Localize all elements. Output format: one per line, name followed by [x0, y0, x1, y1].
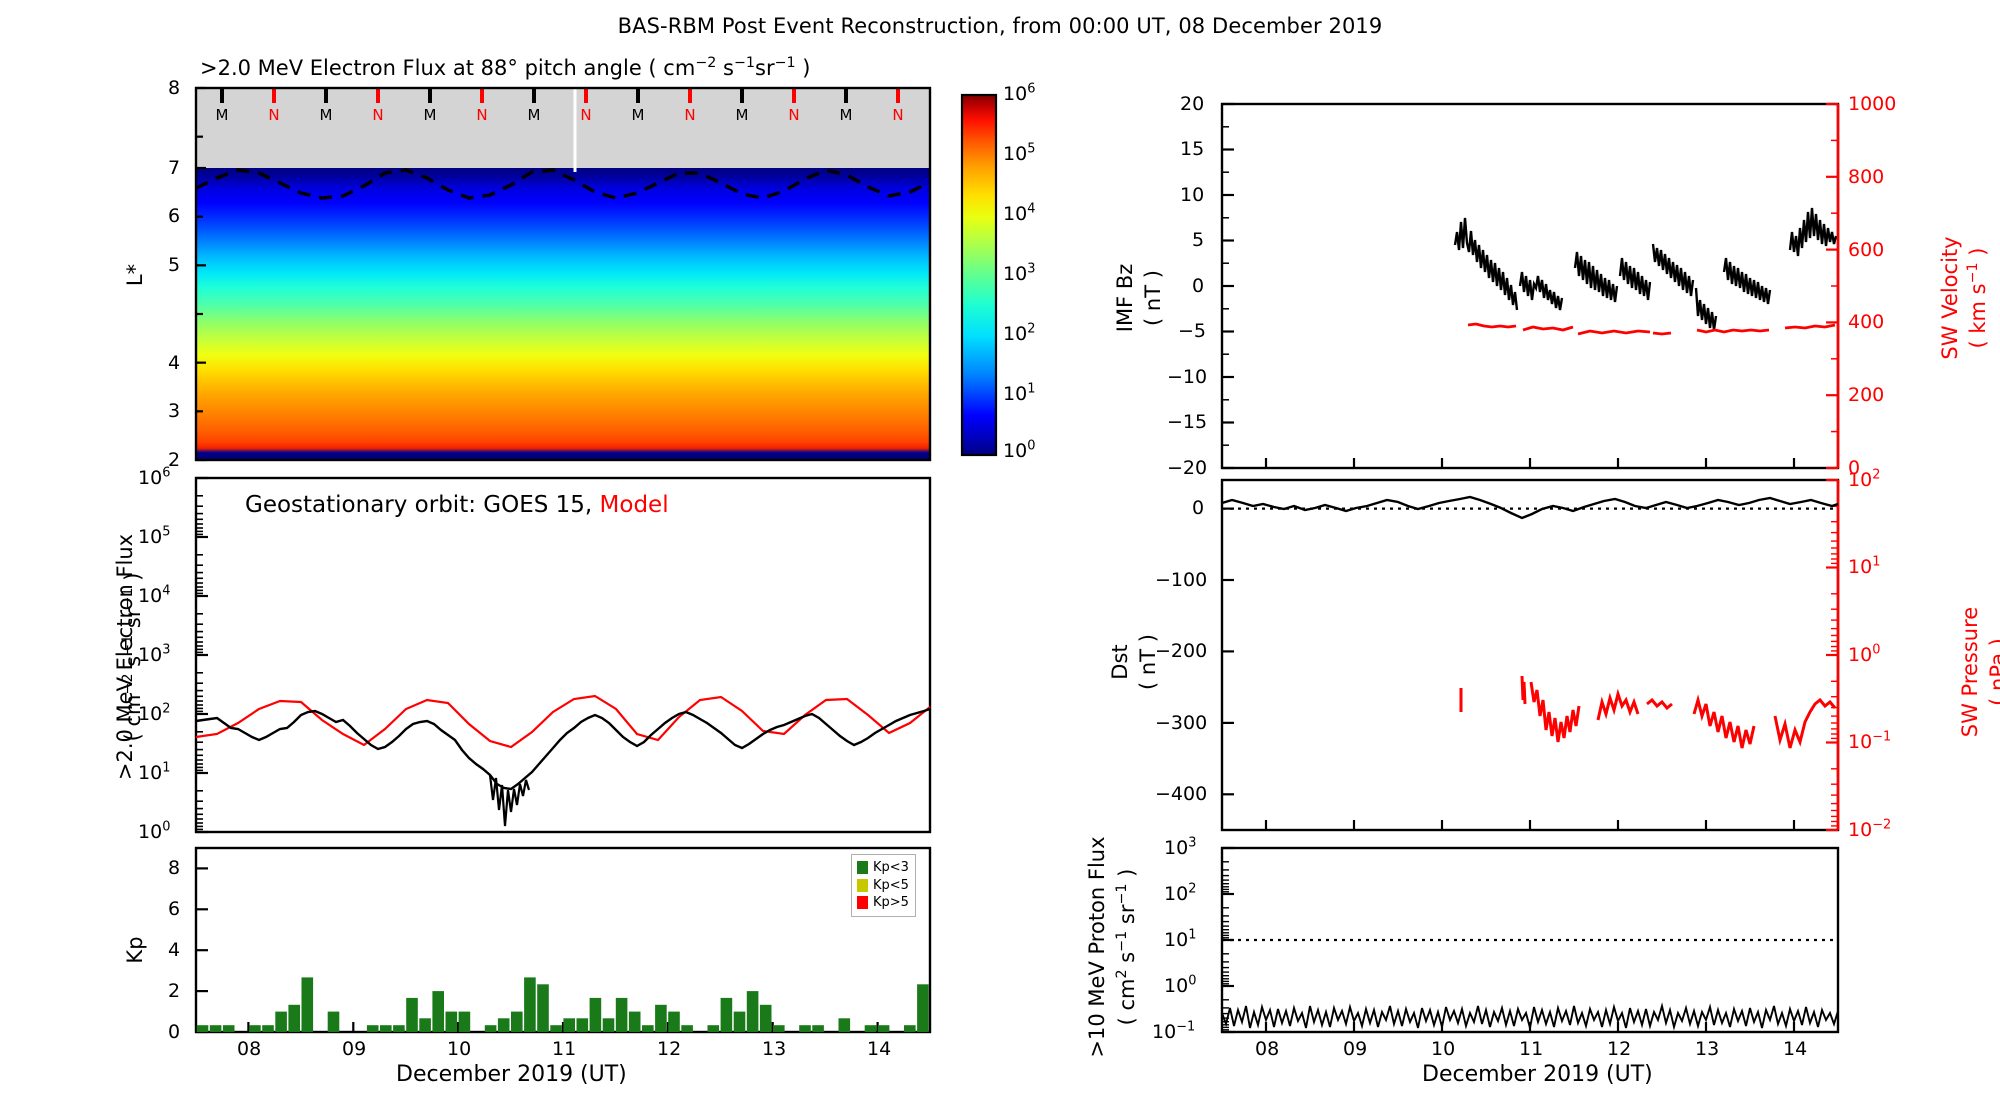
- proton-axis-label-line1: >10 MeV Proton Flux: [1085, 797, 1109, 1097]
- geoflux-ytick-1e4: 104: [138, 585, 170, 607]
- proton-ytick-1e3: 103: [1164, 837, 1196, 859]
- kp-xtick-13: 13: [762, 1038, 786, 1060]
- imfbz-ytick-m10: −10: [1167, 366, 1207, 388]
- proton-xtick-09: 09: [1343, 1038, 1367, 1060]
- mn-label-m-2: M: [311, 106, 341, 124]
- geoflux-axis-label-line1: >2.0 MeV Electron Flux: [113, 497, 137, 817]
- imfbz-ytick-20: 20: [1180, 93, 1204, 115]
- figure-canvas: BAS-RBM Post Event Reconstruction, from …: [0, 0, 2000, 1100]
- mn-label-m-6: M: [727, 106, 757, 124]
- dst-ytick-m300: −300: [1155, 712, 1207, 734]
- proton-xtick-12: 12: [1607, 1038, 1631, 1060]
- kp-xaxis-label: December 2019 (UT): [396, 1062, 627, 1087]
- geoflux-axis-label-line2: ( cm−2 s−1 sr−1 ): [121, 497, 145, 817]
- imfbz-ytick-5: 5: [1192, 229, 1204, 251]
- lstar-ytick-4: 4: [168, 352, 180, 374]
- mn-label-n-2: N: [363, 106, 393, 124]
- kp-legend-label-high: Kp>5: [873, 894, 909, 912]
- sw-pressure-traces: [1461, 676, 1835, 748]
- imf-bz-traces: [1455, 208, 1836, 330]
- swvel-axis-label-line1: SW Velocity: [1938, 178, 1962, 418]
- geoflux-ytick-1e3: 103: [138, 644, 170, 666]
- geoflux-ytick-1e5: 105: [138, 526, 170, 548]
- kp-bars: [197, 977, 929, 1032]
- lstar-axis-label: L*: [123, 245, 147, 305]
- mn-label-m-5: M: [623, 106, 653, 124]
- lstar-ytick-6: 6: [168, 205, 180, 227]
- kp-legend-label-low: Kp<3: [873, 859, 909, 877]
- proton-ytick-1em1: 10−1: [1152, 1021, 1195, 1043]
- proton-xaxis-label: December 2019 (UT): [1422, 1062, 1653, 1087]
- mn-label-n-1: N: [259, 106, 289, 124]
- mn-label-m-1: M: [207, 106, 237, 124]
- swvel-ytick-400: 400: [1848, 311, 1884, 333]
- mn-label-m-4: M: [519, 106, 549, 124]
- dst-axis-label-line2: ( nT ): [1136, 582, 1160, 742]
- lstar-ytick-5: 5: [168, 254, 180, 276]
- imfbz-ytick-m5: −5: [1178, 320, 1206, 342]
- mn-label-n-3: N: [467, 106, 497, 124]
- mn-label-n-6: N: [779, 106, 809, 124]
- dst-curve: [1222, 497, 1838, 518]
- kp-ytick-0: 0: [168, 1021, 180, 1043]
- lstar-ytick-3: 3: [168, 400, 180, 422]
- swpress-ytick-1e1: 101: [1848, 556, 1880, 578]
- mn-label-n-5: N: [675, 106, 705, 124]
- geoflux-ytick-1e0: 100: [138, 821, 170, 843]
- imfbz-axis-label-line2: ( nT ): [1141, 198, 1165, 398]
- proton-flux-trace: [1222, 1006, 1838, 1028]
- kp-legend: Kp<3 Kp<5 Kp>5: [851, 854, 916, 917]
- kp-ytick-6: 6: [168, 898, 180, 920]
- kp-ytick-4: 4: [168, 939, 180, 961]
- proton-xtick-10: 10: [1431, 1038, 1455, 1060]
- swpress-ytick-1em1: 10−1: [1848, 731, 1891, 753]
- dst-ytick-m200: −200: [1155, 640, 1207, 662]
- kp-legend-label-mid: Kp<5: [873, 877, 909, 895]
- mn-label-m-3: M: [415, 106, 445, 124]
- dst-ytick-m100: −100: [1155, 569, 1207, 591]
- dst-ytick-0: 0: [1192, 497, 1204, 519]
- kp-xtick-08: 08: [237, 1038, 261, 1060]
- kp-legend-swatch-mid: [857, 879, 868, 892]
- kp-legend-row-mid: Kp<5: [857, 877, 909, 895]
- colorbar-tick-1e0: 100: [1003, 440, 1035, 462]
- proton-ytick-1e1: 101: [1164, 929, 1196, 951]
- imfbz-axis-label-line1: IMF Bz: [1113, 198, 1137, 398]
- goes15-dropout-spike: [490, 775, 529, 826]
- proton-xtick-14: 14: [1783, 1038, 1807, 1060]
- colorbar-tick-1e6: 106: [1003, 83, 1035, 105]
- colorbar-tick-1e2: 102: [1003, 323, 1035, 345]
- proton-xtick-08: 08: [1255, 1038, 1279, 1060]
- swpress-axis-label-line2: ( nPa ): [1986, 547, 2000, 797]
- lstar-ytick-7: 7: [168, 157, 180, 179]
- dst-axis-label-line1: Dst: [1108, 582, 1132, 742]
- lstar-ytick-2: 2: [168, 449, 180, 471]
- imfbz-ytick-0: 0: [1192, 275, 1204, 297]
- geoflux-inline-legend: Geostationary orbit: GOES 15, Model: [245, 492, 669, 518]
- colorbar-tick-1e4: 104: [1003, 203, 1035, 225]
- mn-label-n-7: N: [883, 106, 913, 124]
- colorbar-tick-1e3: 103: [1003, 263, 1035, 285]
- imfbz-ytick-10: 10: [1180, 184, 1204, 206]
- kp-legend-row-low: Kp<3: [857, 859, 909, 877]
- kp-axis-label: Kp: [123, 915, 147, 985]
- kp-xtick-11: 11: [552, 1038, 576, 1060]
- swpress-ytick-1e0: 100: [1848, 644, 1880, 666]
- colorbar-tick-1e5: 105: [1003, 143, 1035, 165]
- kp-legend-row-high: Kp>5: [857, 894, 909, 912]
- swvel-ytick-200: 200: [1848, 384, 1884, 406]
- swpress-ytick-1em2: 10−2: [1848, 819, 1891, 841]
- swvel-ytick-1000: 1000: [1848, 93, 1896, 115]
- goes15-flux-curve: [196, 709, 930, 789]
- swpress-axis-label-line1: SW Pressure: [1958, 547, 1982, 797]
- model-flux-curve: [196, 696, 930, 747]
- imfbz-ytick-15: 15: [1180, 138, 1204, 160]
- kp-ytick-8: 8: [168, 857, 180, 879]
- proton-xtick-13: 13: [1695, 1038, 1719, 1060]
- geoflux-ytick-1e2: 102: [138, 703, 170, 725]
- mn-label-m-7: M: [831, 106, 861, 124]
- kp-legend-swatch-low: [857, 861, 868, 874]
- swvel-ytick-0: 0: [1848, 457, 1860, 479]
- kp-legend-swatch-high: [857, 896, 868, 909]
- geoflux-ytick-1e1: 101: [138, 762, 170, 784]
- kp-xtick-12: 12: [657, 1038, 681, 1060]
- mn-label-n-4: N: [571, 106, 601, 124]
- proton-axis-label-line2: ( cm2 s−1 sr−1 ): [1115, 797, 1139, 1097]
- proton-ytick-1e0: 100: [1164, 975, 1196, 997]
- swvel-ytick-800: 800: [1848, 166, 1884, 188]
- lstar-ytick-8: 8: [168, 77, 180, 99]
- kp-xtick-10: 10: [447, 1038, 471, 1060]
- panel-flux-spectrogram: >2.0 MeV Electron Flux at 88° pitch angl…: [0, 0, 1000, 480]
- kp-ytick-2: 2: [168, 980, 180, 1002]
- colorbar-tick-1e1: 101: [1003, 383, 1035, 405]
- kp-xtick-14: 14: [867, 1038, 891, 1060]
- dst-ytick-m400: −400: [1155, 783, 1207, 805]
- proton-xtick-11: 11: [1519, 1038, 1543, 1060]
- flux-spectrogram-svg: [0, 0, 1000, 480]
- swvel-axis-label-line2: ( km s−1 ): [1966, 178, 1990, 418]
- swpress-ytick-1e2: 102: [1848, 469, 1880, 491]
- sw-velocity-traces: [1468, 324, 1835, 334]
- imfbz-ytick-m20: −20: [1167, 457, 1207, 479]
- kp-xtick-09: 09: [342, 1038, 366, 1060]
- swvel-ytick-600: 600: [1848, 239, 1884, 261]
- proton-ytick-1e2: 102: [1164, 883, 1196, 905]
- imfbz-ytick-m15: −15: [1167, 411, 1207, 433]
